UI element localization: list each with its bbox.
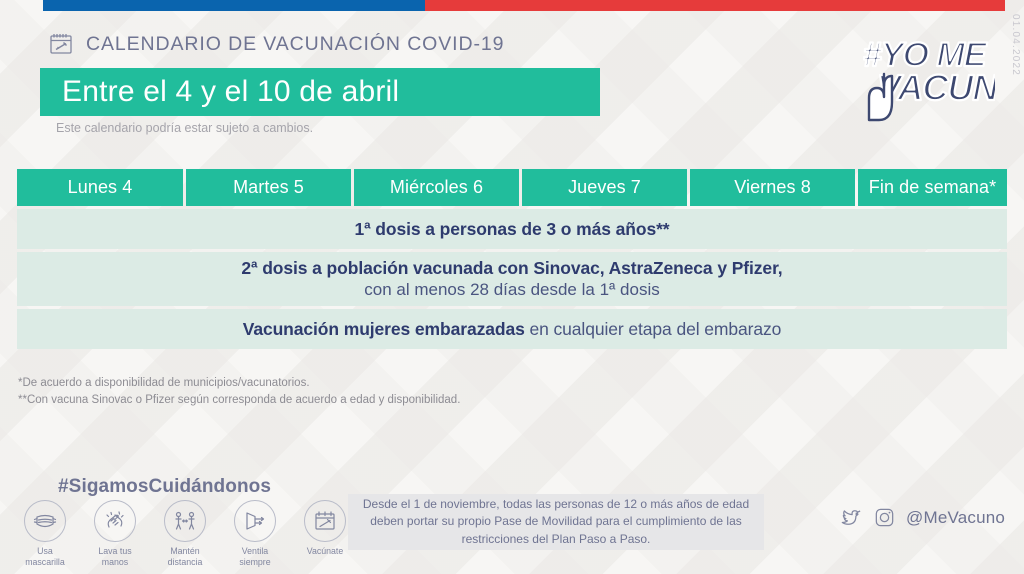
flag-bar-red bbox=[425, 0, 1005, 11]
column-header-lunes[interactable]: Lunes 4 bbox=[17, 169, 183, 206]
yo-me-vacuno-logo: #YO ME VACUNO bbox=[855, 24, 995, 124]
page-title-row: CALENDARIO DE VACUNACIÓN COVID-19 bbox=[48, 31, 504, 57]
list-item-label: Lava tus manos bbox=[98, 546, 131, 568]
page-title: CALENDARIO DE VACUNACIÓN COVID-19 bbox=[86, 33, 504, 56]
list-item: Ventila siempre bbox=[228, 500, 282, 568]
row-primary-text: 1ª dosis a personas de 3 o más años** bbox=[355, 219, 670, 240]
list-item: Mantén distancia bbox=[158, 500, 212, 568]
chile-flag-bar bbox=[43, 0, 1005, 11]
vaccinate-icon bbox=[304, 500, 346, 542]
column-header-fin-de-semana[interactable]: Fin de semana* bbox=[858, 169, 1007, 206]
subject-to-change-note: Este calendario podría estar sujeto a ca… bbox=[56, 121, 313, 135]
mobility-pass-notice-text: Desde el 1 de noviembre, todas las perso… bbox=[362, 496, 750, 548]
date-range-label: Entre el 4 y el 10 de abril bbox=[62, 75, 399, 109]
column-header-viernes[interactable]: Viernes 8 bbox=[690, 169, 855, 206]
footnote-two: **Con vacuna Sinovac o Pfizer según corr… bbox=[18, 392, 460, 409]
vaccination-calendar-table: Lunes 4 Martes 5 Miércoles 6 Jueves 7 Vi… bbox=[17, 169, 1007, 349]
calendar-syringe-icon bbox=[48, 31, 74, 57]
social-distance-icon bbox=[164, 500, 206, 542]
list-item-label: Mantén distancia bbox=[168, 546, 203, 568]
list-item: Lava tus manos bbox=[88, 500, 142, 568]
washing-hands-icon bbox=[94, 500, 136, 542]
table-row: 1ª dosis a personas de 3 o más años** bbox=[17, 209, 1007, 249]
list-item-label: Ventila siempre bbox=[239, 546, 270, 568]
row-primary-light: en cualquier etapa del embarazo bbox=[525, 319, 782, 339]
ventilation-icon bbox=[234, 500, 276, 542]
prevention-measures-list: Usa mascarilla Lava tus manos bbox=[18, 500, 352, 568]
column-header-martes[interactable]: Martes 5 bbox=[186, 169, 351, 206]
column-header-jueves[interactable]: Jueves 7 bbox=[522, 169, 687, 206]
row-primary-text: Vacunación mujeres embarazadas en cualqu… bbox=[243, 319, 782, 340]
list-item: Usa mascarilla bbox=[18, 500, 72, 568]
footnote-one: *De acuerdo a disponibilidad de municipi… bbox=[18, 375, 460, 392]
table-row: Vacunación mujeres embarazadas en cualqu… bbox=[17, 309, 1007, 349]
social-handle[interactable]: @MeVacuno bbox=[906, 508, 1005, 528]
social-media-links[interactable]: @MeVacuno bbox=[838, 505, 1005, 530]
flag-bar-blue bbox=[43, 0, 425, 11]
calendar-header-row: Lunes 4 Martes 5 Miércoles 6 Jueves 7 Vi… bbox=[17, 169, 1007, 206]
twitter-icon[interactable] bbox=[838, 505, 863, 530]
row-secondary-text: con al menos 28 días desde la 1ª dosis bbox=[364, 280, 659, 300]
mobility-pass-notice: Desde el 1 de noviembre, todas las perso… bbox=[348, 494, 764, 550]
row-primary-bold: Vacunación mujeres embarazadas bbox=[243, 319, 525, 339]
instagram-icon[interactable] bbox=[872, 505, 897, 530]
face-mask-icon bbox=[24, 500, 66, 542]
footnotes: *De acuerdo a disponibilidad de municipi… bbox=[18, 375, 460, 409]
column-header-miercoles[interactable]: Miércoles 6 bbox=[354, 169, 519, 206]
svg-text:VACUNO: VACUNO bbox=[877, 67, 995, 108]
list-item-label: Usa mascarilla bbox=[25, 546, 65, 568]
list-item-label: Vacúnate bbox=[307, 546, 344, 557]
table-row: 2ª dosis a población vacunada con Sinova… bbox=[17, 252, 1007, 306]
list-item: Vacúnate bbox=[298, 500, 352, 568]
row-primary-text: 2ª dosis a población vacunada con Sinova… bbox=[241, 258, 782, 279]
vaccination-calendar-page: 01.04.2022 CALENDARIO DE VACUNACIÓN COVI… bbox=[0, 0, 1024, 574]
date-stamp: 01.04.2022 bbox=[1010, 14, 1021, 76]
campaign-hashtag: #SigamosCuidándonos bbox=[58, 476, 271, 498]
date-range-banner: Entre el 4 y el 10 de abril bbox=[40, 68, 600, 116]
